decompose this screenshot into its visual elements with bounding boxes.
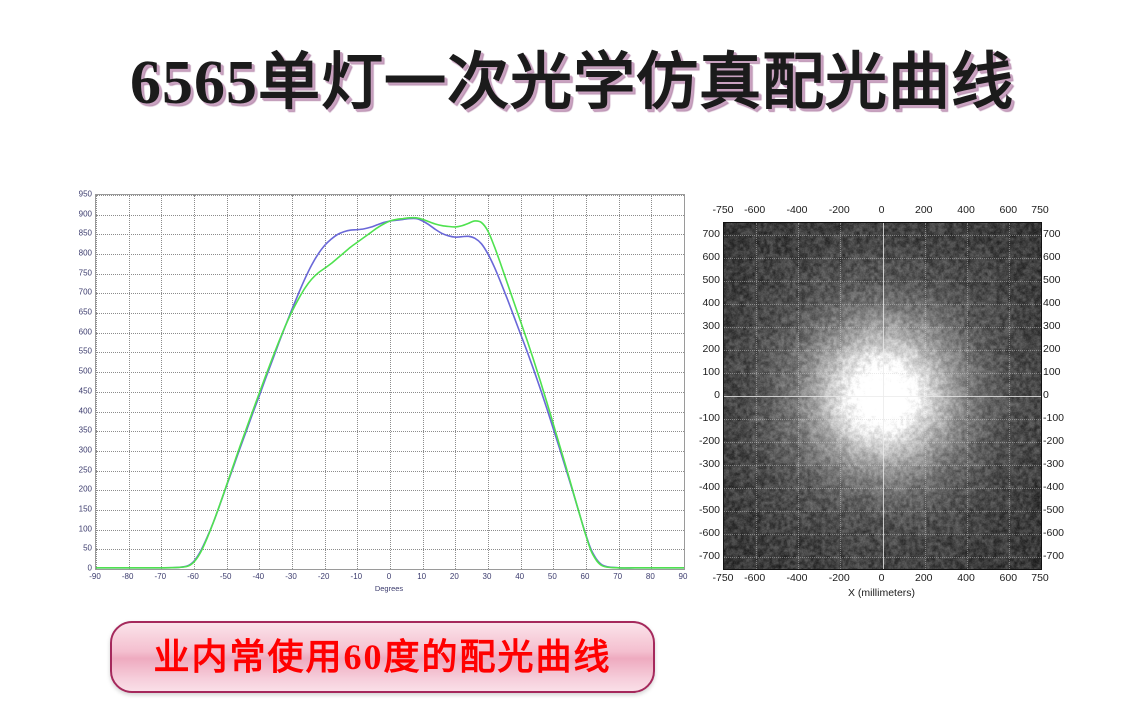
axis-tick-label: -60 <box>187 572 199 581</box>
axis-tick-label: -50 <box>220 572 232 581</box>
axis-tick-label: -200 <box>699 435 720 447</box>
axis-tick-label: 300 <box>702 320 720 332</box>
axis-tick-label: 650 <box>79 308 92 317</box>
gridline-vertical <box>967 223 968 569</box>
axis-tick-label: 700 <box>1043 228 1061 240</box>
axis-tick-label: 400 <box>702 297 720 309</box>
axis-tick-label: 550 <box>79 347 92 356</box>
axis-tick-label: 700 <box>702 228 720 240</box>
lum-y-axis-ticks: 0501001502002503003504004505005506006507… <box>70 194 92 568</box>
axis-tick-label: -200 <box>829 204 850 216</box>
illum-plot-area <box>723 222 1042 570</box>
gridline-vertical <box>925 223 926 569</box>
axis-tick-label: -30 <box>285 572 297 581</box>
axis-tick-label: 0 <box>879 572 885 584</box>
axis-tick-label: 200 <box>915 572 933 584</box>
axis-tick-label: 400 <box>957 572 975 584</box>
axis-tick-label: 0 <box>714 389 720 401</box>
axis-tick-label: 450 <box>79 386 92 395</box>
page-title: 6565单灯一次光学仿真配光曲线 <box>0 52 1144 114</box>
axis-tick-label: 400 <box>79 406 92 415</box>
axis-tick-label: 80 <box>646 572 655 581</box>
axis-tick-label: 600 <box>1000 572 1018 584</box>
axis-tick-label: 500 <box>702 274 720 286</box>
axis-tick-label: -10 <box>351 572 363 581</box>
axis-tick-label: 300 <box>79 445 92 454</box>
axis-tick-label: 400 <box>957 204 975 216</box>
axis-tick-label: -90 <box>89 572 101 581</box>
axis-tick-label: 0 <box>1043 389 1049 401</box>
axis-tick-label: 950 <box>79 190 92 199</box>
axis-tick-label: -200 <box>1043 435 1064 447</box>
axis-tick-label: -100 <box>699 412 720 424</box>
axis-tick-label: 500 <box>1043 274 1061 286</box>
axis-tick-label: 600 <box>1000 204 1018 216</box>
axis-tick-label: 700 <box>79 288 92 297</box>
axis-tick-label: -600 <box>1043 527 1064 539</box>
axis-tick-label: 0 <box>879 204 885 216</box>
axis-tick-label: 750 <box>79 268 92 277</box>
axis-tick-label: 350 <box>79 426 92 435</box>
gridline-horizontal <box>96 569 684 570</box>
axis-tick-label: -400 <box>786 572 807 584</box>
axis-tick-label: 600 <box>1043 251 1061 263</box>
axis-tick-label: 200 <box>1043 343 1061 355</box>
curve-simulation-blue <box>96 218 684 568</box>
axis-tick-label: -600 <box>699 527 720 539</box>
axis-tick-label: -70 <box>155 572 167 581</box>
axis-tick-label: 100 <box>1043 366 1061 378</box>
axis-tick-label: -400 <box>699 481 720 493</box>
axis-tick-label: 0 <box>387 572 391 581</box>
axis-tick-label: -500 <box>1043 504 1064 516</box>
illum-y-axis-ticks-right: 7006005004003002001000-100-200-300-400-5… <box>1043 222 1083 568</box>
axis-tick-label: 200 <box>915 204 933 216</box>
axis-tick-label: 40 <box>515 572 524 581</box>
illum-x-axis-label: X (millimeters) <box>723 587 1040 599</box>
gridline-vertical <box>756 223 757 569</box>
axis-tick-label: 60 <box>581 572 590 581</box>
gridline-vertical <box>1009 223 1010 569</box>
callout-text: 业内常使用60度的配光曲线 <box>153 639 611 675</box>
axis-tick-label: -600 <box>744 572 765 584</box>
axis-tick-label: 500 <box>79 367 92 376</box>
axis-tick-label: -300 <box>1043 458 1064 470</box>
gridline-vertical <box>798 223 799 569</box>
illuminance-map-chart: -750-600-400-2000200400600750 7006005004… <box>700 186 1100 606</box>
axis-tick-label: 30 <box>483 572 492 581</box>
axis-tick-label: 850 <box>79 229 92 238</box>
axis-tick-label: 70 <box>613 572 622 581</box>
crosshair-vertical <box>883 223 884 569</box>
axis-tick-label: -20 <box>318 572 330 581</box>
illum-x-axis-ticks-bottom: -750-600-400-2000200400600750 <box>723 572 1040 586</box>
axis-tick-label: -300 <box>699 458 720 470</box>
axis-tick-label: -500 <box>699 504 720 516</box>
axis-tick-label: 300 <box>1043 320 1061 332</box>
axis-tick-label: 20 <box>450 572 459 581</box>
axis-tick-label: -40 <box>253 572 265 581</box>
axis-tick-label: 10 <box>417 572 426 581</box>
axis-tick-label: -750 <box>712 204 733 216</box>
axis-tick-label: 400 <box>1043 297 1061 309</box>
axis-tick-label: -100 <box>1043 412 1064 424</box>
axis-tick-label: 600 <box>79 327 92 336</box>
luminous-intensity-chart: 0501001502002503003504004505005506006507… <box>70 186 695 606</box>
illum-y-axis-ticks-left: 7006005004003002001000-100-200-300-400-5… <box>700 222 720 568</box>
axis-tick-label: -400 <box>1043 481 1064 493</box>
axis-tick-label: 150 <box>79 504 92 513</box>
lum-curves <box>96 195 684 569</box>
axis-tick-label: -80 <box>122 572 134 581</box>
axis-tick-label: 900 <box>79 209 92 218</box>
axis-tick-label: 90 <box>679 572 688 581</box>
callout-box: 业内常使用60度的配光曲线 <box>110 621 655 693</box>
axis-tick-label: 600 <box>702 251 720 263</box>
axis-tick-label: 100 <box>79 524 92 533</box>
axis-tick-label: 50 <box>548 572 557 581</box>
gridline-vertical <box>684 195 685 569</box>
axis-tick-label: -400 <box>786 204 807 216</box>
axis-tick-label: 200 <box>702 343 720 355</box>
axis-tick-label: 200 <box>79 485 92 494</box>
axis-tick-label: 50 <box>83 544 92 553</box>
axis-tick-label: 100 <box>702 366 720 378</box>
axis-tick-label: -700 <box>1043 550 1064 562</box>
axis-tick-label: 800 <box>79 249 92 258</box>
axis-tick-label: -700 <box>699 550 720 562</box>
axis-tick-label: -600 <box>744 204 765 216</box>
axis-tick-label: -750 <box>712 572 733 584</box>
axis-tick-label: 250 <box>79 465 92 474</box>
axis-tick-label: 750 <box>1031 204 1049 216</box>
lum-x-axis-label: Degrees <box>95 584 683 593</box>
axis-tick-label: -200 <box>829 572 850 584</box>
gridline-vertical <box>840 223 841 569</box>
illum-x-axis-ticks-top: -750-600-400-2000200400600750 <box>723 204 1040 218</box>
axis-tick-label: 750 <box>1031 572 1049 584</box>
curve-simulation-green <box>96 218 684 568</box>
lum-plot-area <box>95 194 685 570</box>
